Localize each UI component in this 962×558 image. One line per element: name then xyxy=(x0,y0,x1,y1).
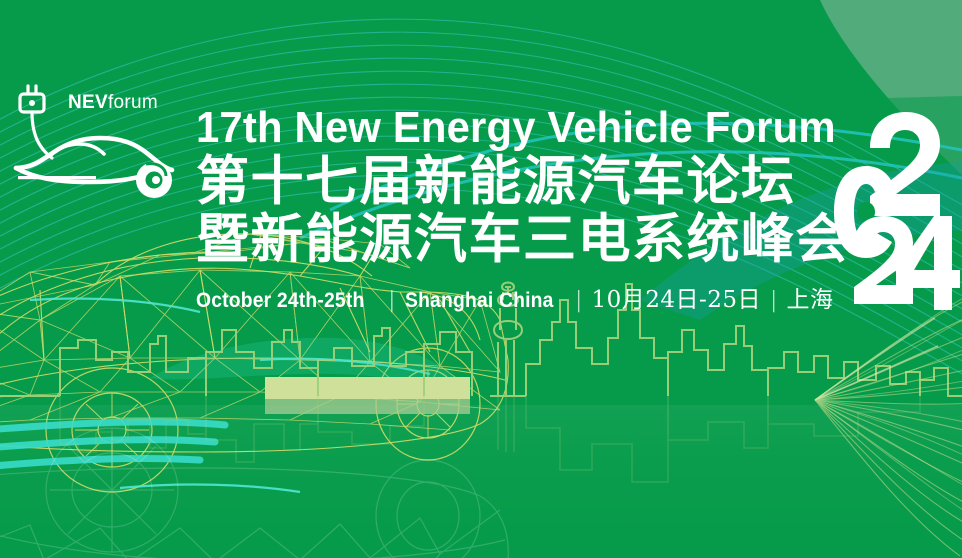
nev-forum-banner: NEVforum 17th New Energy Vehicle Forum 第… xyxy=(0,0,962,558)
separator-2: | xyxy=(575,288,582,313)
headline-text-block: 17th New Energy Vehicle Forum 第十七届新能源汽车论… xyxy=(196,104,836,314)
date-location-row: October 24th-25th | Shanghai China | 10月… xyxy=(196,280,836,314)
location-english: Shanghai China xyxy=(405,289,554,313)
chinese-title-line-2: 暨新能源汽车三电系统峰会 xyxy=(196,210,836,270)
nev-forum-logo-icon xyxy=(6,72,186,212)
year-2024-mark xyxy=(834,104,960,310)
date-english: October 24th-25th xyxy=(196,289,364,313)
date-chinese: 10月24日-25日 xyxy=(591,280,761,314)
location-chinese: 上海 xyxy=(786,280,833,314)
english-title: 17th New Energy Vehicle Forum xyxy=(196,104,804,152)
separator-1: | xyxy=(388,288,395,313)
chinese-title-line-1: 第十七届新能源汽车论坛 xyxy=(196,152,836,212)
separator-3: | xyxy=(770,288,777,313)
